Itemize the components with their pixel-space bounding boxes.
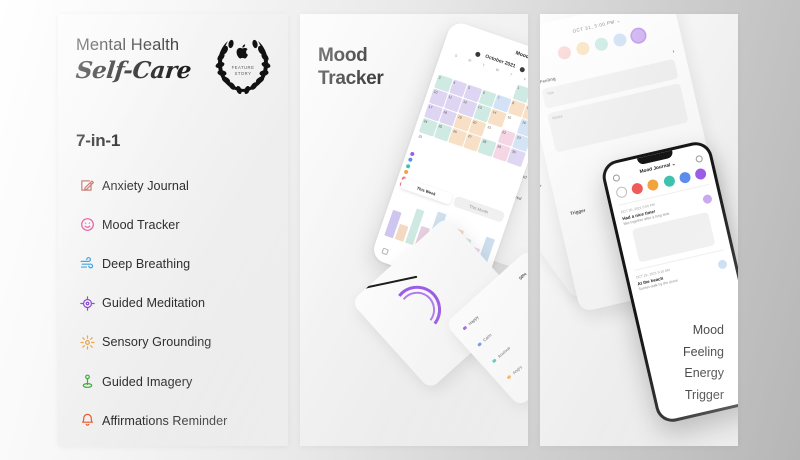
chevron-right-icon: › [672, 49, 675, 54]
feature-label: Deep Breathing [102, 257, 190, 271]
note-edit-icon [72, 177, 102, 194]
panel-mood-journal: Mood Statistics OCT 31, 5:00 PM ⌄ Feelin… [540, 14, 738, 446]
note-edit-icon [79, 177, 96, 194]
mid-scene: Happy50%Calm24%Sad16%Tired10% Mood Check… [300, 14, 528, 446]
stat-dot [506, 375, 511, 380]
stat-label: Happy [467, 314, 479, 326]
legend-dot [404, 169, 409, 174]
bell-icon [79, 412, 96, 429]
mood-filter-chip[interactable] [694, 168, 707, 181]
panel-features: Mental Health Self-Care [58, 14, 288, 446]
chevron-down-icon: ⌄ [671, 162, 676, 168]
mood-filter-chip[interactable] [615, 186, 628, 199]
mood-filter-chip[interactable] [662, 175, 675, 188]
badge-text: FEATURE STORY [212, 65, 274, 78]
keyword-feeling: Feeling [683, 342, 724, 364]
feature-label: Guided Meditation [102, 296, 205, 310]
target-crosshair-icon [72, 295, 102, 312]
sparkle-burst-icon [79, 334, 96, 351]
legend-dot [406, 163, 411, 168]
feature-row-guided-imagery[interactable]: Guided Imagery [72, 362, 284, 401]
feature-row-anxiety-journal[interactable]: Anxiety Journal [72, 166, 284, 205]
badge-line-2: STORY [235, 71, 252, 76]
target-crosshair-icon [79, 295, 96, 312]
feature-label: Affirmations Reminder [102, 414, 227, 428]
stat-label: Angry [511, 364, 522, 375]
journal-entry-list[interactable]: OCT 30, 2021 5:00 PMHad a nice time!Met … [612, 183, 735, 294]
apple-logo-icon [236, 43, 251, 60]
legend-dot [410, 151, 415, 156]
weekday-label: T [504, 71, 519, 80]
weekday-label: S [448, 52, 463, 61]
keyword-mood: Mood [683, 320, 724, 342]
feature-row-deep-breathing[interactable]: Deep Breathing [72, 244, 284, 283]
chevron-down-icon: ⌄ [616, 18, 621, 24]
weekday-label: F [517, 75, 528, 84]
count-label: 7-in-1 [76, 131, 120, 151]
feature-label: Anxiety Journal [102, 179, 189, 193]
feature-list: Anxiety JournalMood TrackerDeep Breathin… [72, 166, 284, 440]
stat-label: Anxious [497, 345, 511, 359]
stat-dot [477, 342, 482, 347]
timestamp-text: OCT 31, 5:00 PM [572, 19, 615, 34]
smiley-face-icon [72, 216, 102, 233]
field-label: Feeling [540, 76, 556, 84]
screenshot-stage: Mental Health Self-Care [0, 0, 800, 460]
prev-month-icon[interactable] [475, 51, 481, 57]
feature-label: Guided Imagery [102, 375, 192, 389]
wind-icon [79, 255, 96, 272]
feature-label: Sensory Grounding [102, 335, 211, 349]
mood-filter-chip[interactable] [631, 182, 644, 195]
calendar-icon[interactable] [381, 248, 389, 256]
feature-row-mood-tracker[interactable]: Mood Tracker [72, 205, 284, 244]
stat-label: Calm [482, 332, 493, 342]
map-pin-icon [79, 373, 96, 390]
weekday-label: T [476, 61, 491, 70]
apple-feature-story-badge: FEATURE STORY [212, 32, 274, 96]
keyword-energy: Energy [683, 363, 724, 385]
sparkle-burst-icon [72, 334, 102, 351]
smiley-face-icon [79, 216, 96, 233]
feature-row-affirmations-reminder[interactable]: Affirmations Reminder [72, 401, 284, 440]
legend-dot [408, 157, 413, 162]
map-pin-icon [72, 373, 102, 390]
badge-line-1: FEATURE [232, 65, 255, 70]
weekday-label: W [490, 66, 505, 75]
feature-row-sensory-grounding[interactable]: Sensory Grounding [72, 323, 284, 362]
laurel-wreath-icon [212, 32, 274, 96]
stat-value: 50% [518, 271, 528, 280]
wind-icon [72, 255, 102, 272]
right-scene: Mood Statistics OCT 31, 5:00 PM ⌄ Feelin… [540, 14, 738, 446]
feature-row-guided-meditation[interactable]: Guided Meditation [72, 284, 284, 323]
keyword-trigger: Trigger [683, 385, 724, 407]
mood-filter-chip[interactable] [647, 179, 660, 192]
field-label: Trigger [570, 208, 586, 216]
stat-dot [492, 358, 497, 363]
left-header: Mental Health Self-Care [76, 36, 272, 84]
feature-label: Mood Tracker [102, 218, 180, 232]
weekday-label: M [462, 56, 477, 65]
mood-filter-chip[interactable] [678, 171, 691, 184]
keyword-list: MoodFeelingEnergyTrigger [683, 320, 724, 406]
panel-mood-tracker: Mood Tracker Happy50%Calm24%Sad16%Tired1… [300, 14, 528, 446]
stat-dot [462, 326, 467, 331]
next-month-icon[interactable] [519, 66, 525, 72]
bell-icon [72, 412, 102, 429]
